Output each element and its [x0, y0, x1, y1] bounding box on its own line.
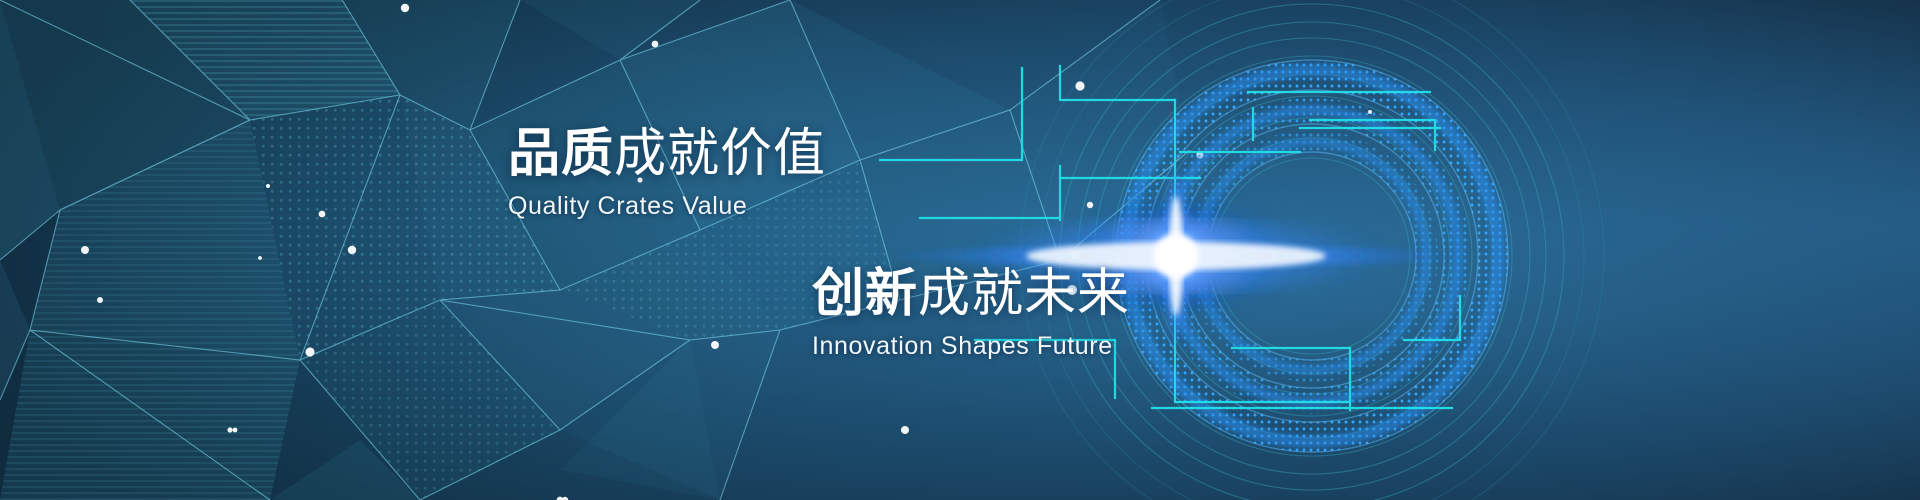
slogan-innovation-cn-light: 成就未来 [918, 268, 1130, 320]
hero-banner: 品质成就价值 Quality Crates Value 创新成就未来 Innov… [0, 0, 1920, 500]
slogan-quality: 品质成就价值 Quality Crates Value [508, 128, 826, 221]
slogan-quality-cn-light: 成就价值 [614, 128, 826, 180]
slogan-innovation: 创新成就未来 Innovation Shapes Future [812, 268, 1130, 361]
slogan-quality-cn: 品质成就价值 [508, 128, 826, 180]
slogan-quality-cn-bold: 品质 [508, 128, 614, 180]
slogan-innovation-cn-bold: 创新 [812, 268, 918, 320]
slogan-innovation-en: Innovation Shapes Future [812, 332, 1130, 361]
background-artwork [0, 0, 1920, 500]
slogan-quality-en: Quality Crates Value [508, 192, 826, 221]
slogan-innovation-cn: 创新成就未来 [812, 268, 1130, 320]
